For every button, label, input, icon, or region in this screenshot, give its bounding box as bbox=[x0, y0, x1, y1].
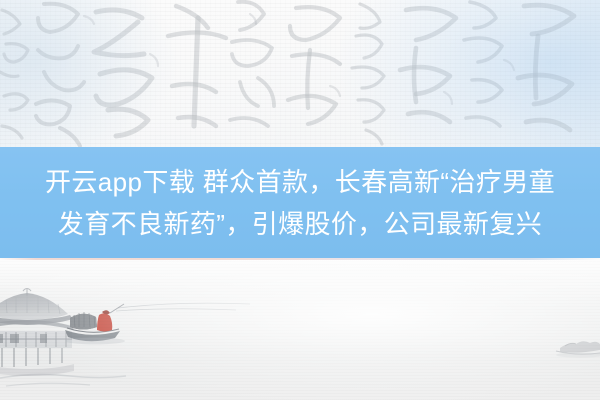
red-robed-figure bbox=[97, 313, 112, 331]
calligraphy-background-panel bbox=[0, 0, 600, 148]
article-banner-poster: 开云app下载 群众首款，长春高新“治疗男童 发育不良新药”，引爆股价，公司最新… bbox=[0, 0, 600, 400]
rose-divider-rule bbox=[0, 258, 600, 260]
headline-line-1: 开云app下载 群众首款，长春高新“治疗男童 bbox=[45, 161, 555, 203]
headline-line-2: 发育不良新药”，引爆股价，公司最新复兴 bbox=[58, 203, 542, 245]
headline-band: 开云app下载 群众首款，长春高新“治疗男童 发育不良新药”，引爆股价，公司最新… bbox=[0, 147, 600, 258]
cursive-calligraphy-icon bbox=[0, 0, 600, 148]
ink-wash-landscape bbox=[0, 258, 600, 400]
